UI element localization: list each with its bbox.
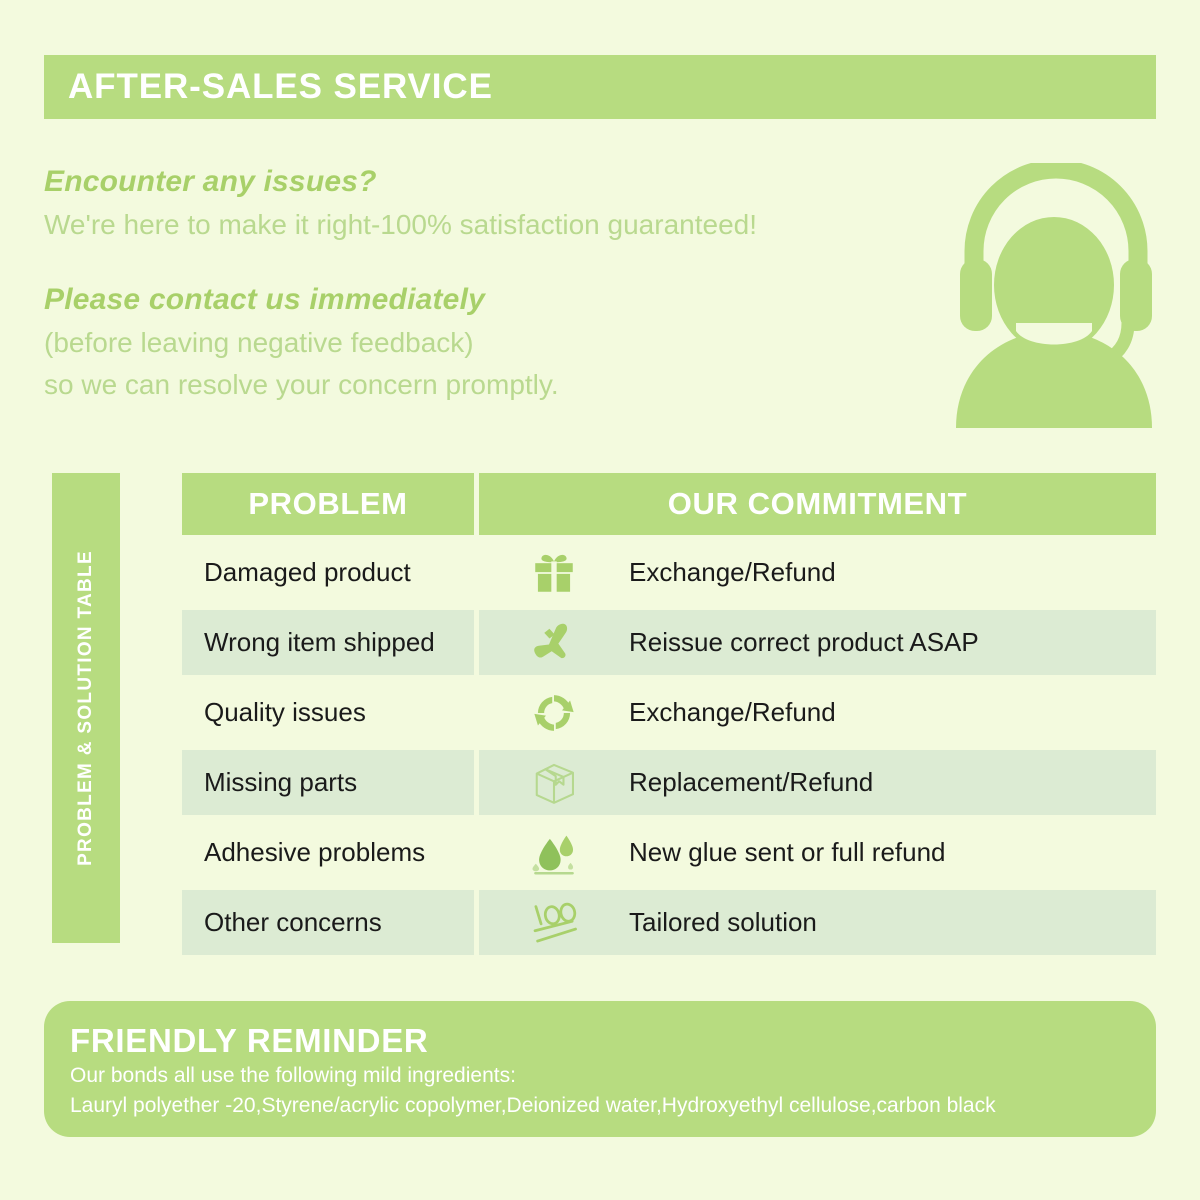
cell-commitment: Tailored solution <box>479 890 1156 955</box>
page-header-bar: AFTER-SALES SERVICE <box>44 55 1156 119</box>
intro-lead-2: Please contact us immediately <box>44 278 944 322</box>
cell-commitment-text: Tailored solution <box>629 907 817 938</box>
footer-line-1: Our bonds all use the following mild ing… <box>70 1061 1130 1091</box>
intro-lead-1: Encounter any issues? <box>44 160 944 204</box>
intro-section: Encounter any issues? We're here to make… <box>44 160 944 406</box>
cell-commitment-text: New glue sent or full refund <box>629 837 946 868</box>
intro-body-2: (before leaving negative feedback) <box>44 322 944 364</box>
cell-commitment: New glue sent or full refund <box>479 820 1156 885</box>
package-box-icon <box>479 758 629 808</box>
cell-problem: Missing parts <box>182 750 474 815</box>
table-row: Damaged product Exchange/Refund <box>182 540 1156 605</box>
side-label-problem-solution-table: PROBLEM & SOLUTION TABLE <box>52 473 120 943</box>
intro-body-1: We're here to make it right-100% satisfa… <box>44 204 944 246</box>
table-row: Other concerns Tailored solution <box>182 890 1156 955</box>
cell-commitment-text: Replacement/Refund <box>629 767 873 798</box>
cell-problem: Other concerns <box>182 890 474 955</box>
table-row: Quality issues Exchange/Refund <box>182 680 1156 745</box>
friendly-reminder-card: FRIENDLY REMINDER Our bonds all use the … <box>44 1001 1156 1137</box>
support-agent-headset-icon <box>946 163 1166 428</box>
glue-drop-icon <box>479 829 629 877</box>
gift-box-icon <box>479 548 629 598</box>
column-header-problem: PROBLEM <box>182 473 474 535</box>
cell-commitment-text: Exchange/Refund <box>629 557 836 588</box>
intro-spacer <box>44 246 944 278</box>
cell-commitment-text: Reissue correct product ASAP <box>629 627 979 658</box>
problem-solution-table: PROBLEM OUR COMMITMENT Damaged product E… <box>182 473 1156 960</box>
footer-line-2: Lauryl polyether -20,Styrene/acrylic cop… <box>70 1091 1130 1121</box>
table-row: Wrong item shipped Reissue correct produ… <box>182 610 1156 675</box>
cell-commitment: Exchange/Refund <box>479 540 1156 605</box>
cell-commitment: Replacement/Refund <box>479 750 1156 815</box>
cell-problem: Wrong item shipped <box>182 610 474 675</box>
intro-body-3: so we can resolve your concern promptly. <box>44 364 944 406</box>
cell-problem: Damaged product <box>182 540 474 605</box>
cell-commitment: Exchange/Refund <box>479 680 1156 745</box>
cell-problem: Quality issues <box>182 680 474 745</box>
hundred-score-icon <box>479 898 629 948</box>
column-header-commitment: OUR COMMITMENT <box>479 473 1156 535</box>
cell-commitment-text: Exchange/Refund <box>629 697 836 728</box>
table-header-row: PROBLEM OUR COMMITMENT <box>182 473 1156 535</box>
airplane-icon <box>479 619 629 666</box>
table-row: Missing parts Replacement/Refund <box>182 750 1156 815</box>
cell-commitment: Reissue correct product ASAP <box>479 610 1156 675</box>
exchange-arrows-icon <box>479 688 629 738</box>
side-label-text: PROBLEM & SOLUTION TABLE <box>75 550 97 866</box>
cell-problem: Adhesive problems <box>182 820 474 885</box>
footer-title: FRIENDLY REMINDER <box>70 1021 1130 1061</box>
table-row: Adhesive problems New glue sent or full … <box>182 820 1156 885</box>
page-title: AFTER-SALES SERVICE <box>44 67 493 107</box>
